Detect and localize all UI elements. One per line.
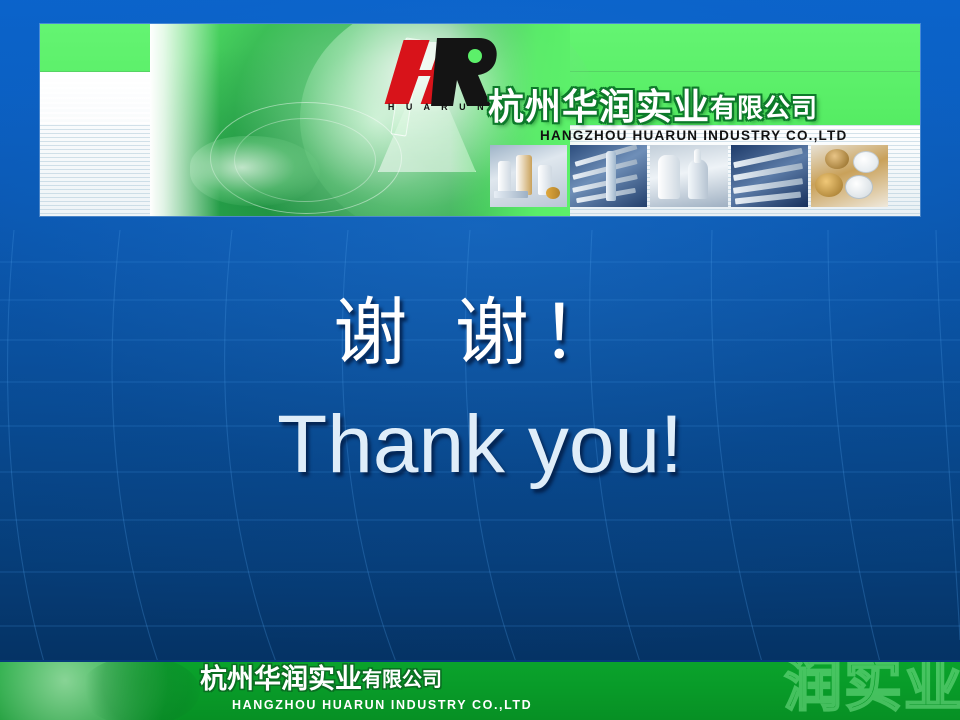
footer-company-name-cn-main: 杭州华润实业	[200, 664, 362, 695]
product-photo-pump-bottles	[490, 145, 567, 207]
product-photo-dropper-bottles	[650, 145, 727, 207]
slide-title-chinese: 谢 谢！	[0, 296, 960, 370]
photo-left-fade	[150, 24, 220, 216]
slide-footer-bar: 润实业 杭州华润实业有限公司 HANGZHOU HUARUN INDUSTRY …	[0, 660, 960, 720]
footer-watermark-text: 润实业	[784, 660, 960, 714]
banner-company-name-cn: 杭州华润实业有限公司	[488, 90, 818, 126]
product-photo-pipette-tips	[570, 145, 647, 207]
product-photo-syringes	[731, 145, 808, 207]
company-header-banner: H U A R U N 杭州华润实业有限公司 HANGZHOU HUARUN I…	[40, 24, 920, 216]
footer-sphere-decoration-2	[80, 660, 200, 720]
presentation-slide: H U A R U N 杭州华润实业有限公司 HANGZHOU HUARUN I…	[0, 0, 960, 720]
logo-wordmark: H U A R U N	[383, 102, 493, 112]
banner-company-name-en: HANGZHOU HUARUN INDUSTRY CO.,LTD	[540, 128, 847, 143]
footer-company-name-en: HANGZHOU HUARUN INDUSTRY CO.,LTD	[232, 698, 532, 712]
banner-company-name-cn-suffix: 有限公司	[710, 94, 818, 124]
product-photo-strip	[490, 145, 888, 207]
footer-company-name-cn: 杭州华润实业有限公司	[200, 666, 442, 693]
product-photo-jars-and-dishes	[811, 145, 888, 207]
banner-company-name-cn-main: 杭州华润实业	[488, 87, 710, 128]
footer-company-name-cn-suffix: 有限公司	[362, 667, 442, 691]
slide-title-english: Thank you!	[0, 404, 960, 486]
